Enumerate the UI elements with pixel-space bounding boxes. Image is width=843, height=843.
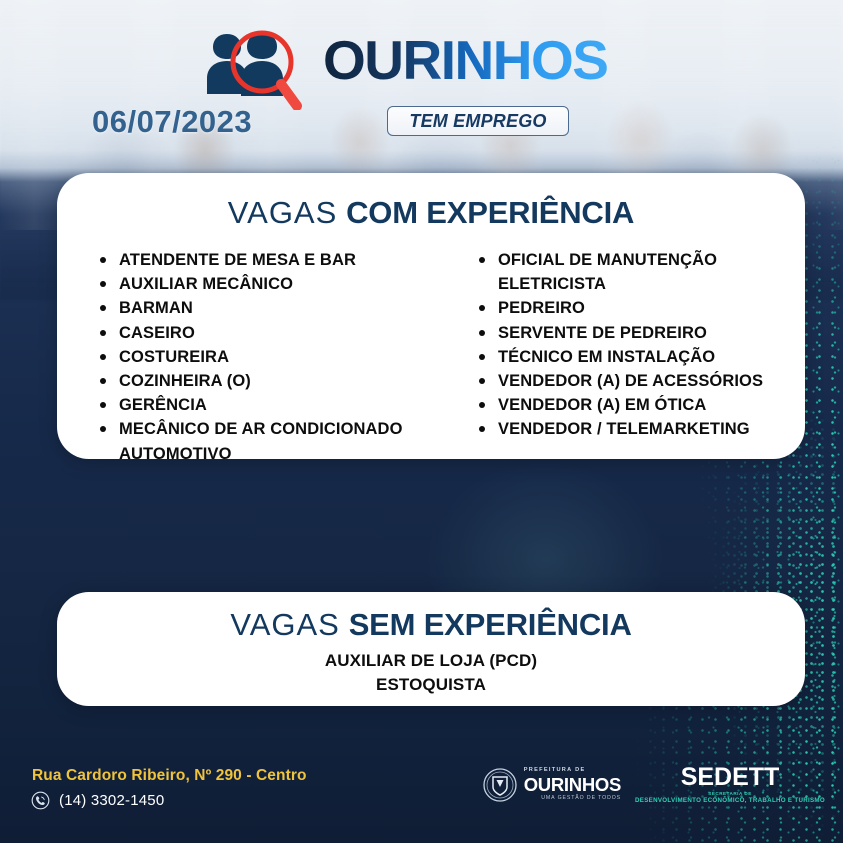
brand-logo-lockup: OURINHOS TEM EMPREGO <box>205 18 665 128</box>
list-item: OFICIAL DE MANUTENÇÃO ELETRICISTA <box>496 248 789 296</box>
footer-logos: PREFEITURA DE OURINHOS UMA GESTÃO DE TOD… <box>483 765 825 804</box>
prefecture-text: PREFEITURA DE OURINHOS UMA GESTÃO DE TOD… <box>524 768 621 801</box>
sedett-name: SEDETT <box>681 765 780 790</box>
list-item: MECÂNICO DE AR CONDICIONADO AUTOMOTIVO <box>117 417 432 465</box>
people-magnifier-icon <box>205 24 317 110</box>
job-vacancy-poster: 06/07/2023 OURINHOS TEM EMPREGO V <box>0 0 843 843</box>
phone-number: (14) 3302-1450 <box>59 792 164 809</box>
vacancy-column-left: ATENDENTE DE MESA E BAR AUXILIAR MECÂNIC… <box>75 248 432 466</box>
list-item: CASEIRO <box>117 321 432 345</box>
list-item: TÉCNICO EM INSTALAÇÃO <box>496 345 789 369</box>
list-item: COSTUREIRA <box>117 345 432 369</box>
prefecture-kicker: PREFEITURA DE <box>524 768 621 774</box>
phone-circle-icon <box>31 791 50 810</box>
card-title-light: VAGAS <box>228 195 338 230</box>
list-item: VENDEDOR / TELEMARKETING <box>496 417 789 441</box>
list-item: BARMAN <box>117 296 432 320</box>
prefecture-name: OURINHOS <box>524 776 621 795</box>
prefecture-subtitle: UMA GESTÃO DE TODOS <box>524 796 621 801</box>
list-item: GERÊNCIA <box>117 393 432 417</box>
coat-of-arms-icon <box>483 766 517 804</box>
brand-wordmark: OURINHOS <box>323 33 607 88</box>
tagline-badge: TEM EMPREGO <box>387 106 569 136</box>
list-item: AUXILIAR MECÂNICO <box>117 272 432 296</box>
list-item: ESTOQUISTA <box>57 673 805 697</box>
sedett-subtitle-line2: DESENVOLVIMENTO ECONÔMICO, TRABALHO E TU… <box>635 798 825 804</box>
vacancy-list-no-experience: AUXILIAR DE LOJA (PCD) ESTOQUISTA <box>57 649 805 697</box>
vacancies-with-experience-card: VAGAS COM EXPERIÊNCIA ATENDENTE DE MESA … <box>57 173 805 459</box>
address-text: Rua Cardoro Ribeiro, Nº 290 - Centro <box>32 767 307 785</box>
sedett-logo: SEDETT SECRETARIA DE DESENVOLVIMENTO ECO… <box>635 765 825 804</box>
list-item: COZINHEIRA (O) <box>117 369 432 393</box>
list-item: VENDEDOR (A) DE ACESSÓRIOS <box>496 369 789 393</box>
list-item: PEDREIRO <box>496 296 789 320</box>
prefecture-logo: PREFEITURA DE OURINHOS UMA GESTÃO DE TOD… <box>483 766 621 804</box>
card-title-without-experience: VAGAS SEM EXPERIÊNCIA <box>57 609 805 640</box>
vacancies-without-experience-card: VAGAS SEM EXPERIÊNCIA AUXILIAR DE LOJA (… <box>57 592 805 706</box>
phone-row: (14) 3302-1450 <box>31 791 164 810</box>
vacancy-columns: ATENDENTE DE MESA E BAR AUXILIAR MECÂNIC… <box>57 248 805 466</box>
card-title-bold: SEM EXPERIÊNCIA <box>349 607 632 642</box>
vacancy-list-right: OFICIAL DE MANUTENÇÃO ELETRICISTA PEDREI… <box>454 248 789 442</box>
card-title-bold: COM EXPERIÊNCIA <box>346 195 634 230</box>
vacancy-list-left: ATENDENTE DE MESA E BAR AUXILIAR MECÂNIC… <box>75 248 432 466</box>
list-item: ATENDENTE DE MESA E BAR <box>117 248 432 272</box>
sedett-subtitle-line1: SECRETARIA DE <box>708 792 752 797</box>
vacancy-column-right: OFICIAL DE MANUTENÇÃO ELETRICISTA PEDREI… <box>432 248 789 466</box>
card-title-light: VAGAS <box>230 607 340 642</box>
card-title-with-experience: VAGAS COM EXPERIÊNCIA <box>57 197 805 228</box>
poster-header: 06/07/2023 OURINHOS TEM EMPREGO <box>0 0 843 175</box>
poster-footer: Rua Cardoro Ribeiro, Nº 290 - Centro (14… <box>0 753 843 843</box>
list-item: SERVENTE DE PEDREIRO <box>496 321 789 345</box>
list-item: AUXILIAR DE LOJA (PCD) <box>57 649 805 673</box>
tagline-text: TEM EMPREGO <box>409 111 546 132</box>
list-item: VENDEDOR (A) EM ÓTICA <box>496 393 789 417</box>
